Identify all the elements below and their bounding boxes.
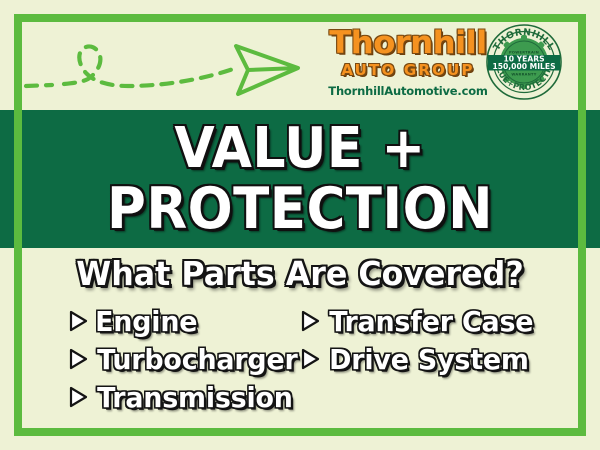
covered-parts-left-column: Engine Turbocharger Transmission [30,304,292,424]
logo-website: ThornhillAutomotive.com [322,84,494,98]
headline-line-2: PROTECTION [21,179,579,239]
page-title: VALUE + PROTECTION [0,112,600,246]
list-item-label: Engine [95,306,197,338]
subtitle-question: What Parts Are Covered? [12,252,588,296]
list-item-label: Drive System [329,344,529,376]
covered-parts-list: Engine Turbocharger Transmission [30,304,570,424]
triangle-right-icon [68,348,88,370]
triangle-right-icon [68,310,88,332]
list-item-label: Transmission [97,382,293,414]
thornhill-logo: Thornhill AUTO GROUP ThornhillAutomotive… [322,22,494,110]
list-item: Turbocharger [68,342,292,378]
list-item-label: Transfer Case [329,306,533,338]
list-item: Engine [68,304,292,340]
triangle-right-icon [68,386,88,408]
promo-banner: Thornhill AUTO GROUP ThornhillAutomotive… [0,0,600,450]
list-item: Transfer Case [300,304,538,340]
logo-brand-name: Thornhill [319,28,498,59]
list-item: Transmission [68,380,292,416]
seal-warranty-text: WARRANTY [511,73,536,77]
dashed-looping-arrow-icon [22,24,302,108]
warranty-seal-badge: THORNHILL VALUE+PROTECTION POWERTRAIN 10… [484,22,564,102]
triangle-right-icon [300,348,320,370]
triangle-right-icon [300,310,320,332]
covered-parts-right-column: Transfer Case Drive System [292,304,538,424]
list-item-label: Turbocharger [97,344,297,376]
headline-line-1: VALUE + [21,119,579,179]
list-item: Drive System [300,342,538,378]
logo-tagline: AUTO GROUP [322,62,494,78]
seal-miles-text: 150,000 MILES [492,62,555,71]
